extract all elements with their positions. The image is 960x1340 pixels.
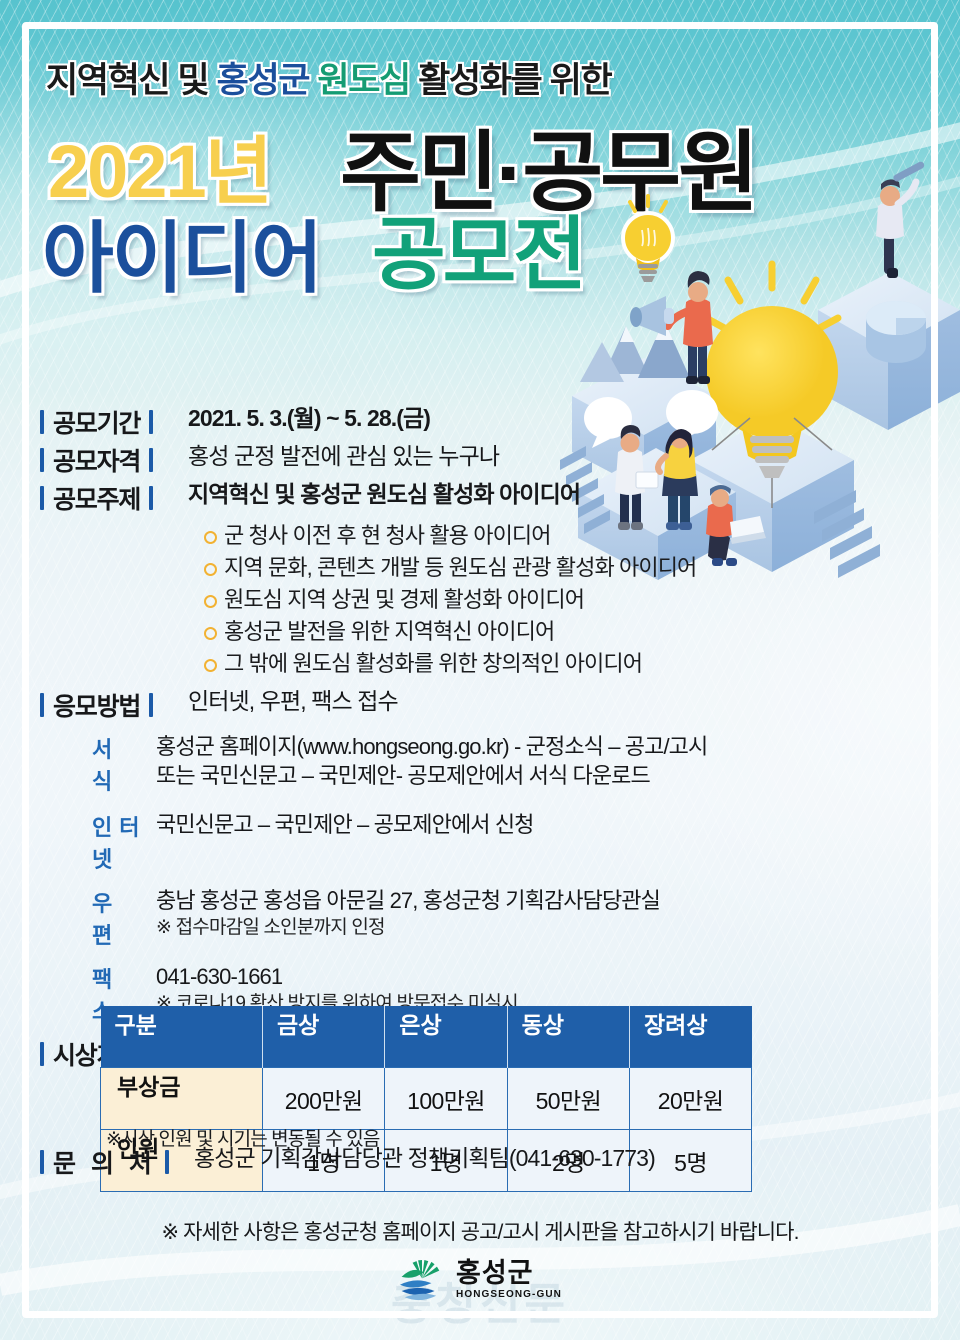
method-mail: 우편 충남 홍성군 홍성읍 아문길 27, 홍성군청 기획감사담당관실 ※ 접수… [40,886,780,950]
method-internet: 인터넷 국민신문고 – 국민제안 – 공모제안에서 신청 [40,810,780,874]
title-contest: 공모전 [372,190,584,306]
label-bar-right [149,410,153,434]
method-internet-label: 인터넷 [40,810,150,874]
label-bar-left [40,486,44,510]
label-theme-text: 공모주제 [53,480,140,516]
value-apply: 인터넷, 우편, 팩스 접수 [180,687,398,716]
contact-block: 문 의 처 홍성군 기획감사담당관 정책기획팀(041-630-1773) [40,1144,780,1182]
label-bar-right [149,693,153,717]
label-bar-left [40,448,44,472]
method-form-label: 서식 [40,732,150,796]
row-header-prize-money: 부상금 [101,1068,263,1130]
label-bar-right [149,448,153,472]
info-row-theme: 공모주제 지역혁신 및 홍성군 원도심 활성화 아이디어 [40,480,780,516]
kicker-post: 활성화를 위한 [418,61,611,100]
poster-root: 지역혁신 및 홍성군 원도심 활성화를 위한 2021년 주민·공무원 아이디어… [0,0,960,1340]
label-apply: 응모방법 [40,687,180,723]
kicker-green: 원도심 [317,61,418,100]
method-form-line-1: 홍성군 홈페이지(www.hongseong.go.kr) - 군정소식 – 공… [156,732,707,761]
kicker-line: 지역혁신 및 홍성군 원도심 활성화를 위한 [46,52,786,104]
label-bar-left [40,693,44,717]
logo-korean: 홍성군 [456,1260,562,1287]
footnote-text: ※ 자세한 사항은 홍성군청 홈페이지 공고/고시 게시판을 참고하시기 바랍니… [0,1216,960,1246]
cell-prize-bronze: 50만원 [507,1068,629,1130]
label-contact: 문 의 처 [40,1144,180,1180]
table-col-silver: 은상 [385,1006,507,1068]
lightbulb-icon [614,194,682,286]
value-eligibility: 홍성 군정 발전에 관심 있는 누구나 [180,442,499,471]
table-row: 부상금 200만원 100만원 50만원 20만원 [101,1068,752,1130]
table-header-row: 구분 금상 은상 동상 장려상 [101,1006,752,1068]
list-item: 홍성군 발전을 위한 지역혁신 아이디어 [200,616,780,648]
info-row-eligibility: 공모자격 홍성 군정 발전에 관심 있는 누구나 [40,442,780,478]
method-form-value: 홍성군 홈페이지(www.hongseong.go.kr) - 군정소식 – 공… [150,732,707,790]
table-col-bronze: 동상 [507,1006,629,1068]
method-mail-label: 우편 [40,886,150,950]
value-theme: 지역혁신 및 홍성군 원도심 활성화 아이디어 [180,480,580,509]
label-period: 공모기간 [40,404,180,440]
list-item: 군 청사 이전 후 현 청사 활용 아이디어 [200,520,780,552]
cell-prize-silver: 100만원 [385,1068,507,1130]
label-period-text: 공모기간 [53,404,140,440]
cell-prize-encouragement: 20만원 [630,1068,752,1130]
person-telescope [876,161,925,278]
label-contact-text: 문 의 처 [53,1144,156,1180]
hongseong-logo: 홍성군 HONGSEONG-GUN [0,1258,960,1302]
info-row-contact: 문 의 처 홍성군 기획감사담당관 정책기획팀(041-630-1773) [40,1144,780,1180]
cylinder-shape [866,301,926,363]
method-form: 서식 홍성군 홈페이지(www.hongseong.go.kr) - 군정소식 … [40,732,780,796]
title-idea: 아이디어 [42,196,321,308]
list-item: 지역 문화, 콘텐츠 개발 등 원도심 관광 활성화 아이디어 [200,552,780,584]
info-row-apply: 응모방법 인터넷, 우편, 팩스 접수 [40,687,780,723]
list-item: 원도심 지역 상권 및 경제 활성화 아이디어 [200,584,780,616]
label-theme: 공모주제 [40,480,180,516]
label-apply-text: 응모방법 [53,687,140,723]
table-col-category: 구분 [101,1006,263,1068]
method-internet-value: 국민신문고 – 국민제안 – 공모제안에서 신청 [150,810,534,839]
logo-text: 홍성군 HONGSEONG-GUN [456,1260,562,1300]
method-fax-line-1: 041-630-1661 [156,962,518,991]
kicker-blue: 홍성군 [217,61,318,100]
cell-prize-gold: 200만원 [262,1068,384,1130]
value-period: 2021. 5. 3.(월) ~ 5. 28.(금) [180,404,430,433]
label-bar-right [149,486,153,510]
label-eligibility-text: 공모자격 [53,442,140,478]
label-bar-right [165,1150,169,1174]
method-mail-note: ※ 접수마감일 소인분까지 인정 [156,915,660,940]
label-bar-left [40,1150,44,1174]
main-title: 2021년 주민·공무원 아이디어 공모전 [42,112,802,292]
label-eligibility: 공모자격 [40,442,180,478]
list-item: 그 밖에 원도심 활성화를 위한 창의적인 아이디어 [200,648,780,680]
label-bar-left [40,1042,44,1066]
method-internet-line-1: 국민신문고 – 국민제안 – 공모제안에서 신청 [156,810,534,839]
logo-emblem-icon [398,1258,446,1302]
method-form-line-2: 또는 국민신문고 – 국민제안- 공모제안에서 서식 다운로드 [156,761,707,790]
logo-english: HONGSEONG-GUN [456,1290,562,1300]
mountains-shape [580,320,690,382]
method-mail-value: 충남 홍성군 홍성읍 아문길 27, 홍성군청 기획감사담당관실 ※ 접수마감일… [150,886,660,940]
label-bar-left [40,410,44,434]
method-mail-line-1: 충남 홍성군 홍성읍 아문길 27, 홍성군청 기획감사담당관실 [156,886,660,915]
info-row-period: 공모기간 2021. 5. 3.(월) ~ 5. 28.(금) [40,404,780,440]
value-contact: 홍성군 기획감사담당관 정책기획팀(041-630-1773) [180,1144,655,1173]
table-col-gold: 금상 [262,1006,384,1068]
topic-list: 군 청사 이전 후 현 청사 활용 아이디어 지역 문화, 콘텐츠 개발 등 원… [200,520,780,681]
table-col-encouragement: 장려상 [630,1006,752,1068]
kicker-pre: 지역혁신 및 [46,61,217,100]
info-block: 공모기간 2021. 5. 3.(월) ~ 5. 28.(금) 공모자격 홍성 … [40,404,780,1074]
